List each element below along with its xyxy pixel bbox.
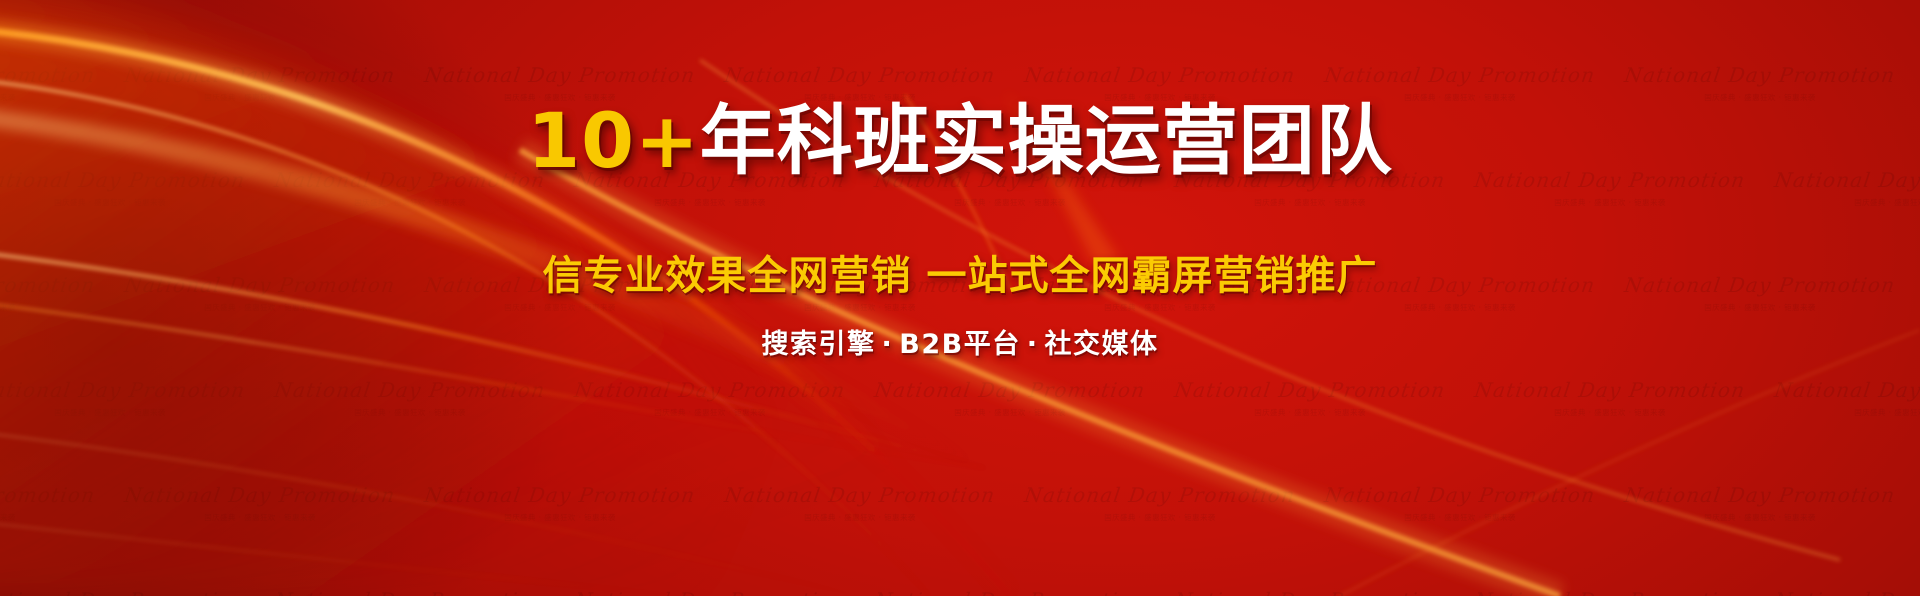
tagline-separator: · (1021, 329, 1045, 360)
headline-number: 10+ (527, 96, 699, 185)
headline: 10+年科班实操运营团队 (0, 103, 1920, 180)
tagline: 搜索引擎·B2B平台·社交媒体 (0, 322, 1920, 361)
subheadline: 信专业效果全网营销 一站式全网霸屏营销推广 (0, 243, 1920, 301)
promo-banner: National Day Promotion国庆盛典 · 盛惠狂欢 · 钜惠来袭… (0, 0, 1920, 596)
headline-text: 年科班实操运营团队 (700, 96, 1393, 185)
tagline-item-search-engine: 搜索引擎 (762, 329, 876, 360)
tagline-item-b2b-platform: B2B平台 (899, 329, 1020, 360)
tagline-separator: · (876, 329, 900, 360)
tagline-item-social-media: 社交媒体 (1044, 329, 1158, 360)
banner-text-content: 10+年科班实操运营团队 信专业效果全网营销 一站式全网霸屏营销推广 搜索引擎·… (0, 0, 1920, 596)
